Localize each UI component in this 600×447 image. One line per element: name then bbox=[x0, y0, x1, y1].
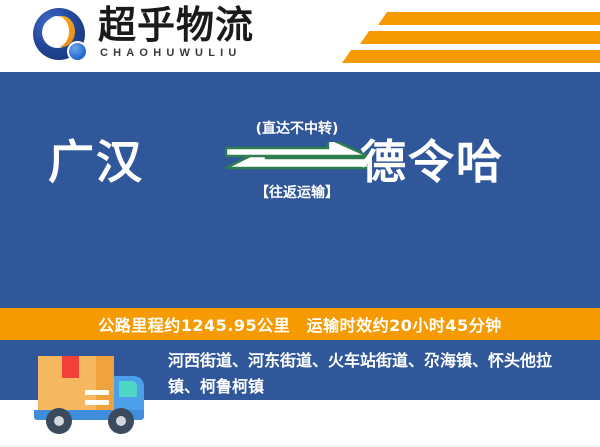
double-headed-arrow-icon bbox=[222, 142, 372, 182]
truck-window bbox=[119, 381, 137, 397]
main-panel: 广汉 (直达不中转) 【往返运输】 德令哈 公路里程约1245.95公里 运输时… bbox=[0, 72, 600, 400]
brand-name-en: CHAOHUWULIU bbox=[100, 47, 242, 59]
route-middle-group: (直达不中转) 【往返运输】 bbox=[222, 118, 372, 238]
origin-city: 广汉 bbox=[48, 132, 144, 192]
truck-box-label bbox=[62, 356, 79, 378]
stripe-3 bbox=[342, 50, 600, 63]
round-trip-note: 【往返运输】 bbox=[222, 182, 372, 202]
distance-duration-bar: 公路里程约1245.95公里 运输时效约20小时45分钟 bbox=[0, 308, 600, 340]
truck-stripe-2 bbox=[85, 400, 109, 405]
logo-crescent-mask-shape bbox=[45, 16, 69, 47]
truck-wheel-rear bbox=[46, 408, 72, 434]
distance-duration-text: 公路里程约1245.95公里 运输时效约20小时45分钟 bbox=[98, 312, 501, 336]
direct-route-note: (直达不中转) bbox=[222, 118, 372, 138]
brand-logo-icon bbox=[33, 8, 89, 64]
logistics-route-card: 超乎物流 CHAOHUWULIU 广汉 (直达不中转) 【往返运输】 德 bbox=[0, 0, 600, 400]
coverage-areas-text: 河西街道、河东街道、火车站街道、尕海镇、怀头他拉镇、柯鲁柯镇 bbox=[168, 348, 580, 400]
logo-dot-shape bbox=[67, 41, 88, 62]
delivery-truck-icon bbox=[30, 350, 150, 432]
stripe-1 bbox=[378, 12, 600, 25]
header: 超乎物流 CHAOHUWULIU bbox=[0, 0, 600, 72]
truck-wheel-front bbox=[108, 408, 134, 434]
truck-stripe-1 bbox=[85, 390, 109, 395]
route-row: 广汉 (直达不中转) 【往返运输】 德令哈 bbox=[0, 124, 600, 234]
truck-wheel-hub bbox=[54, 416, 64, 426]
truck-wheel-hub bbox=[116, 416, 126, 426]
orange-speed-stripes-icon bbox=[330, 8, 600, 66]
destination-city: 德令哈 bbox=[360, 132, 504, 192]
stripe-2 bbox=[360, 31, 600, 44]
brand-name-cn: 超乎物流 bbox=[98, 4, 254, 46]
